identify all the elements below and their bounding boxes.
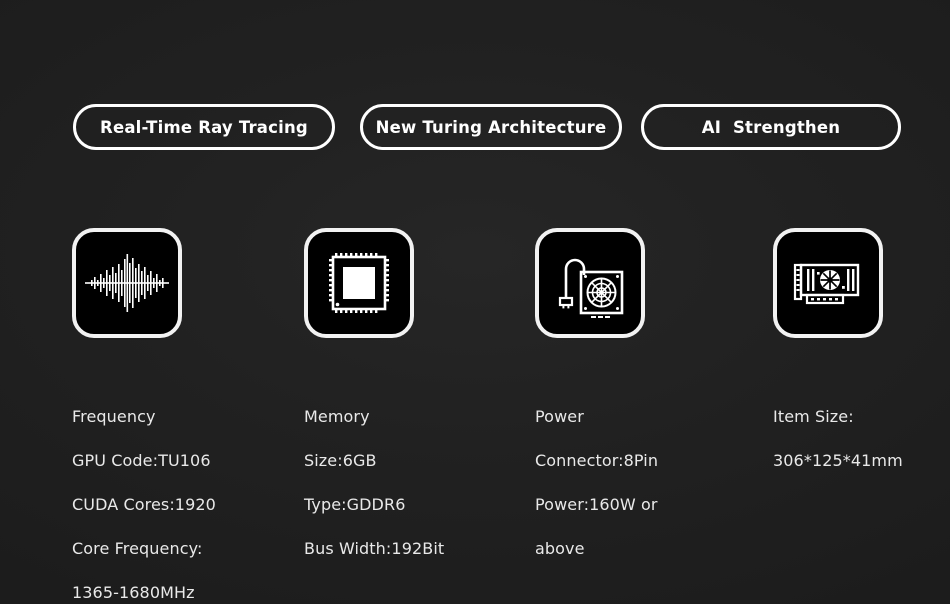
spec-line: Size:6GB <box>304 450 536 472</box>
spec-line: 306*125*41mm <box>773 450 950 472</box>
icon-tile-memory <box>304 228 414 338</box>
spec-text-memory: Memory Size:6GB Type:GDDR6 Bus Width:192… <box>304 384 536 582</box>
spec-line: above <box>535 538 767 560</box>
spec-line: Bus Width:192Bit <box>304 538 536 560</box>
spec-line: Frequency <box>72 406 304 428</box>
spec-line: Memory <box>304 406 536 428</box>
power-supply-icon <box>550 243 630 323</box>
spec-line: Item Size: <box>773 406 950 428</box>
icon-tile-item-size <box>773 228 883 338</box>
waveform-icon <box>81 237 173 329</box>
pill-new-turing-architecture[interactable]: New Turing Architecture <box>360 104 622 150</box>
spec-line: 1365-1680MHz <box>72 582 304 604</box>
icon-tile-power <box>535 228 645 338</box>
spec-column-memory: Memory Size:6GB Type:GDDR6 Bus Width:192… <box>304 228 536 582</box>
spec-line: Power <box>535 406 767 428</box>
feature-pill-row: Real-Time Ray Tracing New Turing Archite… <box>0 104 950 152</box>
spec-column-item-size: Item Size: 306*125*41mm <box>773 228 950 494</box>
graphics-card-icon <box>784 239 872 327</box>
spec-line: Type:GDDR6 <box>304 494 536 516</box>
memory-chip-icon <box>321 245 397 321</box>
spec-text-item-size: Item Size: 306*125*41mm <box>773 384 950 494</box>
spec-line: Connector:8Pin <box>535 450 767 472</box>
spec-column-frequency: Frequency GPU Code:TU106 CUDA Cores:1920… <box>72 228 304 604</box>
product-spec-banner: Real-Time Ray Tracing New Turing Archite… <box>0 0 950 604</box>
spec-line: Core Frequency: <box>72 538 304 560</box>
spec-line: Power:160W or <box>535 494 767 516</box>
spec-text-power: Power Connector:8Pin Power:160W or above <box>535 384 767 582</box>
spec-line: GPU Code:TU106 <box>72 450 304 472</box>
pill-real-time-ray-tracing[interactable]: Real-Time Ray Tracing <box>73 104 335 150</box>
spec-column-power: Power Connector:8Pin Power:160W or above <box>535 228 767 582</box>
spec-text-frequency: Frequency GPU Code:TU106 CUDA Cores:1920… <box>72 384 304 604</box>
pill-ai-strengthen[interactable]: AI Strengthen <box>641 104 901 150</box>
spec-line: CUDA Cores:1920 <box>72 494 304 516</box>
icon-tile-frequency <box>72 228 182 338</box>
